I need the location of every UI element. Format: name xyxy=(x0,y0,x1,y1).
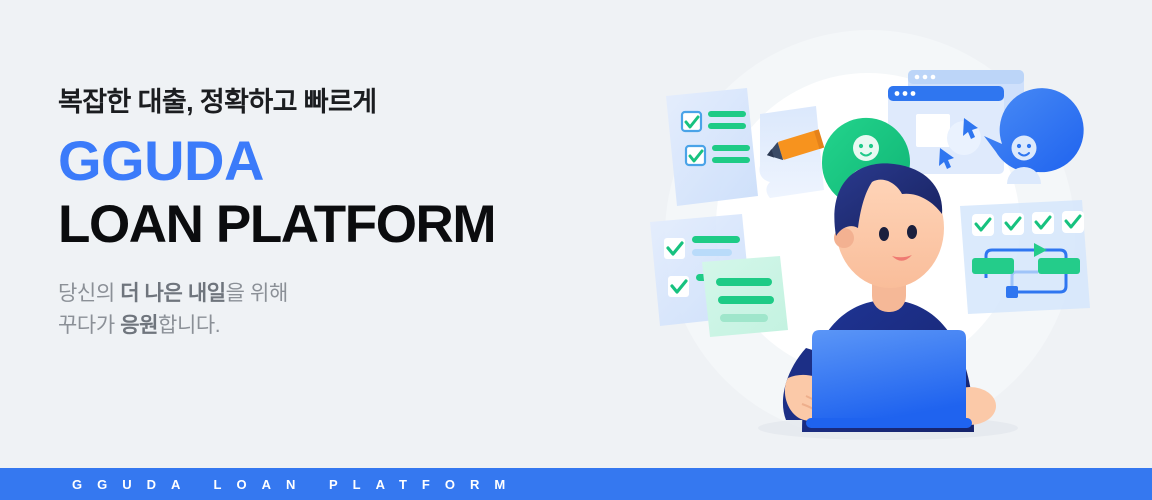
tagline-2-suffix: 합니다. xyxy=(158,314,220,337)
pencil-document xyxy=(759,106,824,198)
tagline-1-prefix: 당신의 xyxy=(58,282,120,305)
hero-tagline: 당신의 더 나은 내일을 위해 꾸다가 응원합니다. xyxy=(58,278,618,342)
note-card-mint xyxy=(702,256,788,337)
checklist-card-top-left xyxy=(666,88,758,206)
tagline-1-suffix: 을 위해 xyxy=(226,282,288,305)
flow-node-1 xyxy=(972,258,1014,274)
person-eye-left xyxy=(879,227,889,241)
laptop xyxy=(806,330,972,428)
tagline-line-1: 당신의 더 나은 내일을 위해 xyxy=(58,278,618,310)
tagline-2-prefix: 꾸다가 xyxy=(58,314,120,337)
person-eye-right xyxy=(907,225,917,239)
hero-copy-block: 복잡한 대출, 정확하고 빠르게 GGUDA LOAN PLATFORM 당신의… xyxy=(58,86,618,342)
bottom-ticker-bar: GGUDA LOAN PLATFORM xyxy=(0,468,1152,500)
flow-node-3 xyxy=(1006,286,1018,298)
flowchart-card-right xyxy=(960,200,1090,314)
tagline-2-bold: 응원 xyxy=(120,314,158,337)
brand-title: GGUDA xyxy=(58,130,618,193)
product-title: LOAN PLATFORM xyxy=(58,195,618,254)
tagline-1-bold: 더 나은 내일 xyxy=(120,282,225,305)
flow-node-2 xyxy=(1038,258,1080,274)
hero-eyebrow: 복잡한 대출, 정확하고 빠르게 xyxy=(58,86,618,118)
hero-illustration xyxy=(620,0,1152,468)
ticker-text: GGUDA LOAN PLATFORM xyxy=(0,477,520,492)
hero-banner: 복잡한 대출, 정확하고 빠르게 GGUDA LOAN PLATFORM 당신의… xyxy=(0,0,1152,500)
tagline-line-2: 꾸다가 응원합니다. xyxy=(58,310,618,342)
